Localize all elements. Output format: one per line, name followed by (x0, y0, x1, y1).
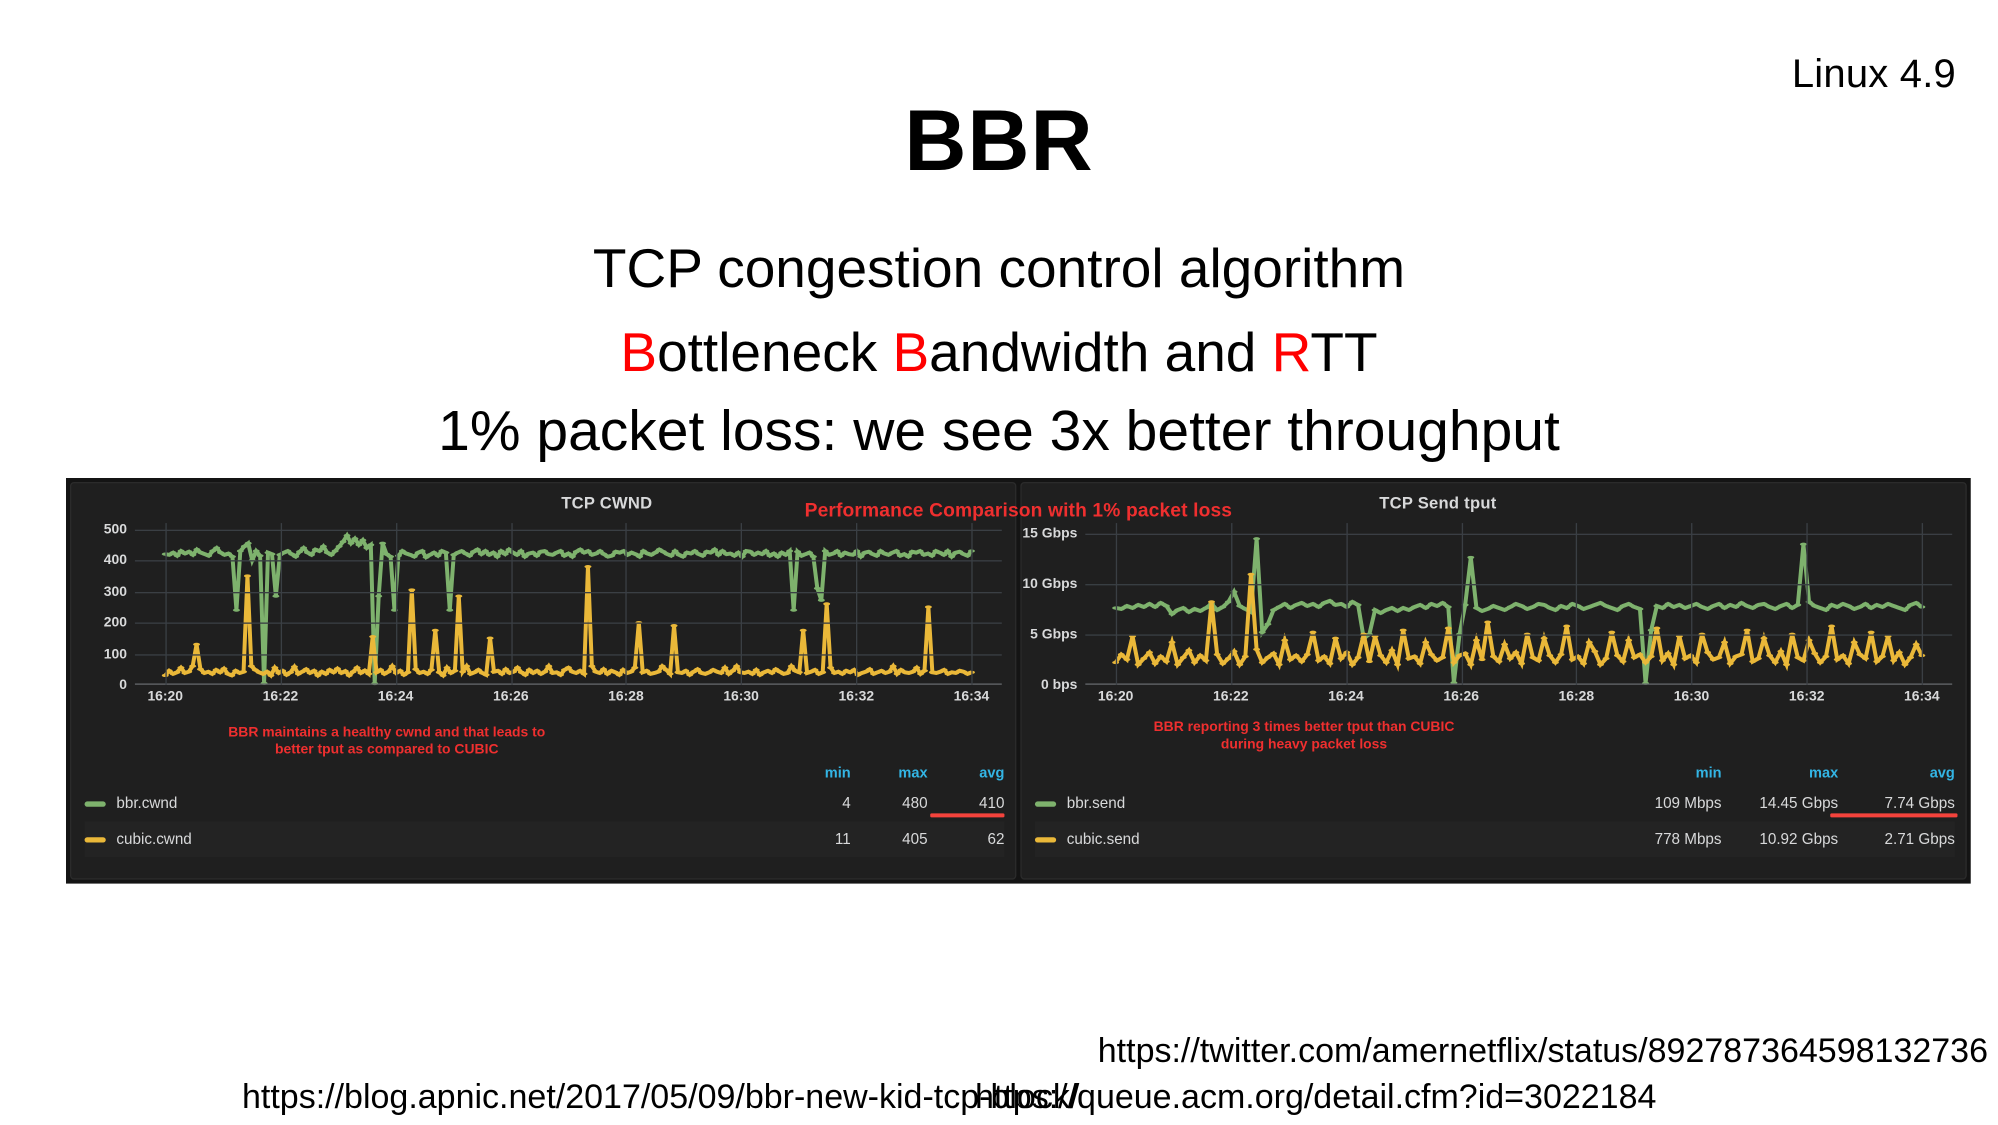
series-point (229, 555, 236, 558)
tput-annotation: BBR reporting 3 times better tput than C… (1138, 719, 1469, 754)
series-point (1817, 606, 1824, 609)
series-point (668, 554, 675, 557)
series-point (1242, 655, 1249, 658)
series-point (225, 552, 232, 555)
series-point (494, 669, 501, 672)
bbr-initial-b1: B (620, 321, 657, 383)
avg-highlight-underline (930, 813, 1004, 817)
series-point (1309, 602, 1316, 605)
series-point (541, 670, 548, 673)
bbr-initial-b2: B (892, 321, 929, 383)
x-axis-tick-label: 16:24 (378, 689, 414, 705)
series-point (478, 553, 485, 556)
series-point (1896, 606, 1903, 609)
series-point (1704, 651, 1711, 654)
series-point (534, 669, 541, 672)
source-link-acm[interactable]: https://queue.acm.org/detail.cfm?id=3022… (975, 1078, 1656, 1117)
series-point (1749, 660, 1756, 663)
series-point (1856, 605, 1863, 608)
gridline-h (1085, 533, 1952, 534)
series-point (1529, 605, 1536, 608)
series-point (336, 545, 343, 548)
series-point (790, 609, 797, 612)
series-point (944, 549, 951, 552)
series-point (1732, 655, 1739, 658)
series-point (424, 672, 431, 675)
series-point (814, 587, 821, 590)
stats-header-min[interactable]: min (774, 765, 851, 781)
series-point (663, 668, 670, 671)
series-point (451, 669, 458, 672)
series-point (1388, 606, 1395, 609)
series-point (672, 549, 679, 552)
stats-value-avg: 62 (928, 831, 1005, 847)
series-point (1501, 643, 1508, 646)
series-point (667, 672, 674, 675)
stats-header-max[interactable]: max (1722, 765, 1839, 781)
series-point (1761, 637, 1768, 640)
series-point (1355, 656, 1362, 659)
series-point (1332, 637, 1339, 640)
series-point (1834, 605, 1841, 608)
series-point (1146, 602, 1153, 605)
series-point (346, 674, 353, 677)
y-axis-tick-label: 500 (104, 521, 127, 537)
series-point (759, 553, 766, 556)
series-point (466, 554, 473, 557)
legend-color-swatch (1035, 801, 1056, 806)
avg-highlight-underline (1830, 813, 1957, 817)
gridline-v (856, 523, 857, 685)
series-point (721, 666, 728, 669)
series-point (1445, 605, 1452, 608)
series-point (1727, 662, 1734, 665)
series-point (786, 549, 793, 552)
series-point (1580, 607, 1587, 610)
series-point (272, 595, 279, 598)
series-point (1693, 602, 1700, 605)
series-point (1490, 604, 1497, 607)
stats-header-min[interactable]: min (1605, 765, 1722, 781)
series-point (1338, 602, 1345, 605)
series-point (823, 602, 830, 605)
series-point (1276, 663, 1283, 666)
series-point (1479, 609, 1486, 612)
series-point (177, 666, 184, 669)
series-point (241, 545, 248, 548)
series-point (1276, 605, 1283, 608)
series-point (1546, 606, 1553, 609)
series-point (774, 555, 781, 558)
panel-tcp-cwnd: TCP CWND 010020030040050016:2016:2216:24… (70, 482, 1016, 880)
series-point (715, 553, 722, 556)
series-point (1349, 663, 1356, 666)
series-point (296, 550, 303, 553)
series-point (1648, 655, 1655, 658)
series-point (1546, 654, 1553, 657)
legend-color-swatch (85, 837, 106, 842)
stats-header-avg[interactable]: avg (1838, 765, 1955, 781)
series-point (1197, 654, 1204, 657)
series-point (1817, 661, 1824, 664)
series-point (490, 551, 497, 554)
series-point (794, 550, 801, 553)
series-point (636, 555, 643, 558)
source-link-apnic[interactable]: https://blog.apnic.net/2017/05/09/bbr-ne… (242, 1078, 1079, 1117)
series-point (1518, 662, 1525, 665)
series-point (1636, 653, 1643, 656)
series-point (1873, 603, 1880, 606)
series-point (749, 672, 756, 675)
series-point (1738, 601, 1745, 604)
series-point (608, 554, 615, 557)
series-point (1434, 604, 1441, 607)
gridline-v (1231, 523, 1232, 685)
series-point (1552, 608, 1559, 611)
series-point (1405, 657, 1412, 660)
legend-stats-row[interactable]: bbr.cwnd4480410 (85, 786, 1005, 822)
series-point (643, 669, 650, 672)
x-axis-tick-label: 16:32 (838, 689, 874, 705)
series-point (1157, 655, 1164, 658)
x-axis-tick-label: 16:32 (1789, 689, 1825, 705)
bbr-text-1: ottleneck (657, 321, 892, 383)
series-point (557, 673, 564, 676)
series-point (565, 666, 572, 669)
cwnd-annotation: BBR maintains a healthy cwnd and that le… (228, 725, 546, 760)
series-point (1388, 649, 1395, 652)
gridline-v (971, 523, 972, 685)
series-point (308, 553, 315, 556)
series-point (1591, 650, 1598, 653)
series-point (1896, 651, 1903, 654)
series-point (1569, 602, 1576, 605)
series-point (1614, 608, 1621, 611)
series-point (209, 549, 216, 552)
series-point (1845, 662, 1852, 665)
series-point (1349, 600, 1356, 603)
series-point (1862, 657, 1869, 660)
stats-value-min: 778 Mbps (1605, 831, 1722, 847)
series-point (1118, 607, 1125, 610)
gridline-v (280, 523, 281, 685)
series-point (788, 664, 795, 667)
series-point (185, 670, 192, 673)
series-point (186, 550, 193, 553)
series-point (348, 542, 355, 545)
series-point (784, 671, 791, 674)
series-point (209, 672, 216, 675)
series-point (1219, 605, 1226, 608)
stats-value-max: 405 (851, 831, 928, 847)
series-point (1422, 606, 1429, 609)
series-point (1219, 662, 1226, 665)
tput-axis-baseline (1085, 683, 1952, 684)
series-point (359, 539, 366, 542)
series-point (1732, 605, 1739, 608)
series-point (1428, 653, 1435, 656)
series-point (354, 666, 361, 669)
series-point (482, 549, 489, 552)
series-point (1569, 658, 1576, 661)
series-point (1315, 605, 1322, 608)
series-point (1467, 556, 1474, 559)
series-point (1140, 605, 1147, 608)
series-point (1670, 663, 1677, 666)
series-point (1512, 602, 1519, 605)
series-point (1868, 606, 1875, 609)
legend-stats-row[interactable]: cubic.send778 Mbps10.92 Gbps2.71 Gbps (1035, 821, 1955, 857)
grafana-dashboard-image: Performance Comparison with 1% packet lo… (66, 478, 1971, 884)
series-point (596, 671, 603, 674)
series-point (375, 595, 382, 598)
series-point (1591, 603, 1598, 606)
series-point (679, 555, 686, 558)
series-point (1484, 620, 1491, 623)
series-point (1653, 604, 1660, 607)
series-point (1777, 650, 1784, 653)
series-point (1338, 657, 1345, 660)
series-point (1704, 607, 1711, 610)
series-point (446, 609, 453, 612)
series-point (245, 542, 252, 545)
series-point (287, 671, 294, 674)
series-point (707, 551, 714, 554)
series-point (917, 549, 924, 552)
legend-series-name[interactable]: cubic.cwnd (116, 831, 773, 847)
series-point (1620, 604, 1627, 607)
series-point (1625, 639, 1632, 642)
series-point (1653, 627, 1660, 630)
series-point (316, 549, 323, 552)
series-point (1777, 604, 1784, 607)
series-point (332, 549, 339, 552)
stats-value-max: 480 (851, 795, 928, 811)
series-point (1253, 537, 1260, 540)
series-point (1236, 604, 1243, 607)
series-point (1710, 658, 1717, 661)
series-point (857, 555, 864, 558)
series-point (1264, 656, 1271, 659)
series-point (782, 553, 789, 556)
series-point (369, 635, 376, 638)
series-point (193, 548, 200, 551)
series-point (1135, 663, 1142, 666)
series-point (1715, 602, 1722, 605)
series-point (1377, 654, 1384, 657)
series-point (322, 672, 329, 675)
tput-series-svg (1085, 523, 1952, 685)
series-point (1766, 605, 1773, 608)
series-point (1326, 662, 1333, 665)
series-point (233, 609, 240, 612)
series-point (1248, 573, 1255, 576)
series-point (818, 599, 825, 602)
gridline-v (626, 523, 627, 685)
series-point (1270, 652, 1277, 655)
series-point (1304, 653, 1311, 656)
series-point (1174, 663, 1181, 666)
x-axis-tick-label: 16:30 (1674, 689, 1710, 705)
series-point (244, 574, 251, 577)
series-point (1180, 606, 1187, 609)
series-point (419, 549, 426, 552)
series-point (1236, 663, 1243, 666)
series-point (1146, 651, 1153, 654)
x-axis-tick-label: 16:20 (1098, 689, 1134, 705)
series-point (1174, 608, 1181, 611)
series-point (1727, 603, 1734, 606)
cwnd-axis-baseline (135, 683, 1002, 684)
stats-header-max[interactable]: max (851, 765, 928, 781)
series-point (1625, 602, 1632, 605)
series-point (1563, 606, 1570, 609)
stats-header-avg[interactable]: avg (928, 765, 1005, 781)
series-point (940, 553, 947, 556)
series-point (1140, 657, 1147, 660)
series-point (569, 555, 576, 558)
series-point (379, 542, 386, 545)
series-point (1214, 608, 1221, 611)
series-point (925, 605, 932, 608)
x-axis-tick-label: 16:30 (723, 689, 759, 705)
series-point (1321, 601, 1328, 604)
gridline-h (135, 591, 1002, 592)
panel-tcp-send-tput: TCP Send tput 0 bps5 Gbps10 Gbps15 Gbps1… (1020, 482, 1966, 880)
series-point (1445, 627, 1452, 630)
gridline-v (511, 523, 512, 685)
series-point (584, 565, 591, 568)
series-point (694, 668, 701, 671)
series-point (581, 672, 588, 675)
series-point (1755, 657, 1762, 660)
series-point (517, 549, 524, 552)
series-point (1648, 629, 1655, 632)
series-point (733, 664, 740, 667)
series-point (311, 669, 318, 672)
series-point (1890, 659, 1897, 662)
series-point (753, 668, 760, 671)
series-point (1761, 602, 1768, 605)
series-point (806, 551, 813, 554)
series-point (1524, 607, 1531, 610)
gridline-h (135, 529, 1002, 530)
series-point (770, 552, 777, 555)
series-point (1400, 606, 1407, 609)
kernel-version-label: Linux 4.9 (1792, 52, 1956, 97)
series-point (1473, 606, 1480, 609)
series-point (964, 554, 971, 557)
series-point (320, 545, 327, 548)
series-point (1834, 658, 1841, 661)
series-point (1152, 662, 1159, 665)
series-point (1462, 603, 1469, 606)
series-point (909, 670, 916, 673)
series-point (455, 595, 462, 598)
series-point (174, 554, 181, 557)
gridline-h (135, 623, 1002, 624)
series-point (725, 672, 732, 675)
series-point (659, 664, 666, 667)
series-point (267, 674, 274, 677)
legend-series-name[interactable]: bbr.cwnd (116, 795, 773, 811)
series-point (731, 554, 738, 557)
source-link-twitter[interactable]: https://twitter.com/amernetflix/status/8… (1098, 1032, 1988, 1071)
legend-series-name[interactable]: cubic.send (1067, 831, 1605, 847)
series-point (1659, 606, 1666, 609)
series-point (1670, 605, 1677, 608)
series-point (1417, 662, 1424, 665)
series-point (166, 669, 173, 672)
series-point (1873, 660, 1880, 663)
series-point (1529, 656, 1536, 659)
series-point (1394, 609, 1401, 612)
cwnd-legend-table: minmaxavgbbr.cwnd4480410cubic.cwnd114056… (85, 760, 1005, 857)
series-point (1518, 604, 1525, 607)
series-point (928, 554, 935, 557)
series-point (1823, 608, 1830, 611)
series-point (1659, 659, 1666, 662)
series-point (811, 668, 818, 671)
series-point (404, 671, 411, 674)
series-point (1321, 655, 1328, 658)
series-point (827, 666, 834, 669)
series-point (1507, 605, 1514, 608)
series-point (428, 668, 435, 671)
series-line-cubic.cwnd (165, 567, 971, 676)
series-point (440, 674, 447, 677)
series-point (1287, 606, 1294, 609)
series-point (444, 666, 451, 669)
series-point (893, 549, 900, 552)
series-point (1326, 599, 1333, 602)
series-point (365, 672, 372, 675)
tput-legend-table: minmaxavgbbr.send109 Mbps14.45 Gbps7.74 … (1035, 760, 1955, 857)
series-point (1202, 606, 1209, 609)
x-axis-tick-label: 16:20 (147, 689, 183, 705)
bullet-line-1: TCP congestion control algorithm (0, 238, 1998, 299)
legend-stats-row[interactable]: cubic.cwnd1140562 (85, 821, 1005, 857)
series-point (483, 673, 490, 676)
series-point (344, 534, 351, 537)
series-point (1185, 610, 1192, 613)
series-point (193, 643, 200, 646)
series-point (442, 551, 449, 554)
series-point (1496, 606, 1503, 609)
gridline-h (135, 560, 1002, 561)
gridline-v (1461, 523, 1462, 685)
series-point (1202, 659, 1209, 662)
legend-stats-row[interactable]: bbr.send109 Mbps14.45 Gbps7.74 Gbps (1035, 786, 1955, 822)
y-axis-tick-label: 400 (104, 552, 127, 568)
series-point (1287, 658, 1294, 661)
legend-series-name[interactable]: bbr.send (1067, 795, 1605, 811)
series-point (1123, 604, 1130, 607)
y-axis-tick-label: 300 (104, 584, 127, 600)
series-point (1394, 663, 1401, 666)
series-point (1693, 661, 1700, 664)
series-point (1597, 601, 1604, 604)
series-point (1490, 655, 1497, 658)
series-point (522, 673, 529, 676)
stats-value-min: 4 (774, 795, 851, 811)
series-point (699, 554, 706, 557)
series-point (514, 666, 521, 669)
series-point (1603, 604, 1610, 607)
series-point (600, 668, 607, 671)
series-point (463, 664, 470, 667)
series-point (253, 549, 260, 552)
